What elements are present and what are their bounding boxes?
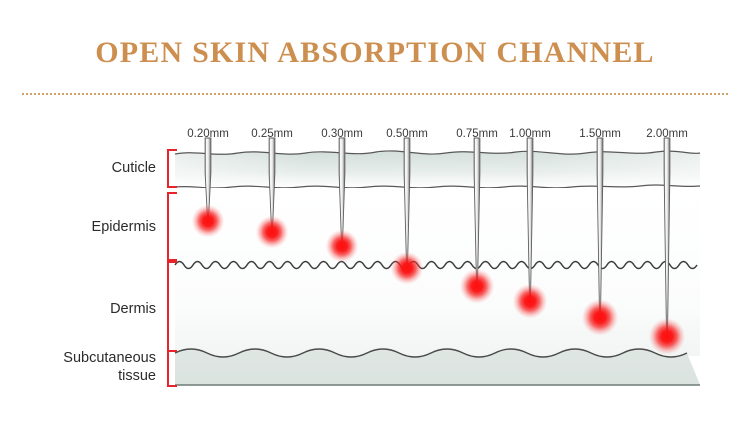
depth-label-0-25mm: 0.25mm [251, 128, 293, 140]
header-divider [22, 93, 728, 95]
needle-tip-glow-0-75mm [459, 268, 495, 304]
depth-label-0-20mm: 0.20mm [187, 128, 229, 140]
needle-tip-glow-2-00mm [648, 317, 686, 355]
layer-label-epidermis: Epidermis [92, 218, 156, 236]
dermis-layer [175, 188, 700, 356]
needle-tip-glow-0-20mm [191, 204, 225, 238]
needle-tip-glow-0-50mm [390, 251, 424, 285]
depth-label-0-50mm: 0.50mm [386, 128, 428, 140]
depth-label-0-30mm: 0.30mm [321, 128, 363, 140]
cuticle-layer [175, 151, 700, 188]
needle-tip-glow-1-50mm [581, 298, 619, 336]
depth-label-1-00mm: 1.00mm [509, 128, 551, 140]
layer-label-cuticle: Cuticle [112, 159, 156, 177]
depth-label-1-50mm: 1.50mm [579, 128, 621, 140]
page-title: OPEN SKIN ABSORPTION CHANNEL [0, 36, 750, 70]
depth-label-2-00mm: 2.00mm [646, 128, 688, 140]
needle-tip-glow-0-30mm [325, 229, 359, 263]
page-header: OPEN SKIN ABSORPTION CHANNEL [0, 0, 750, 105]
skin-cross-section-diagram: 0.20mm0.25mm0.30mm0.50mm0.75mm1.00mm1.50… [0, 105, 750, 421]
subcutaneous-layer [175, 349, 700, 385]
depth-label-0-75mm: 0.75mm [456, 128, 498, 140]
layer-label-subcutaneous-tissue: Subcutaneous tissue [63, 349, 156, 385]
layer-label-dermis: Dermis [110, 300, 156, 318]
needle-tip-glow-1-00mm [512, 283, 548, 319]
needle-tip-glow-0-25mm [255, 215, 289, 249]
